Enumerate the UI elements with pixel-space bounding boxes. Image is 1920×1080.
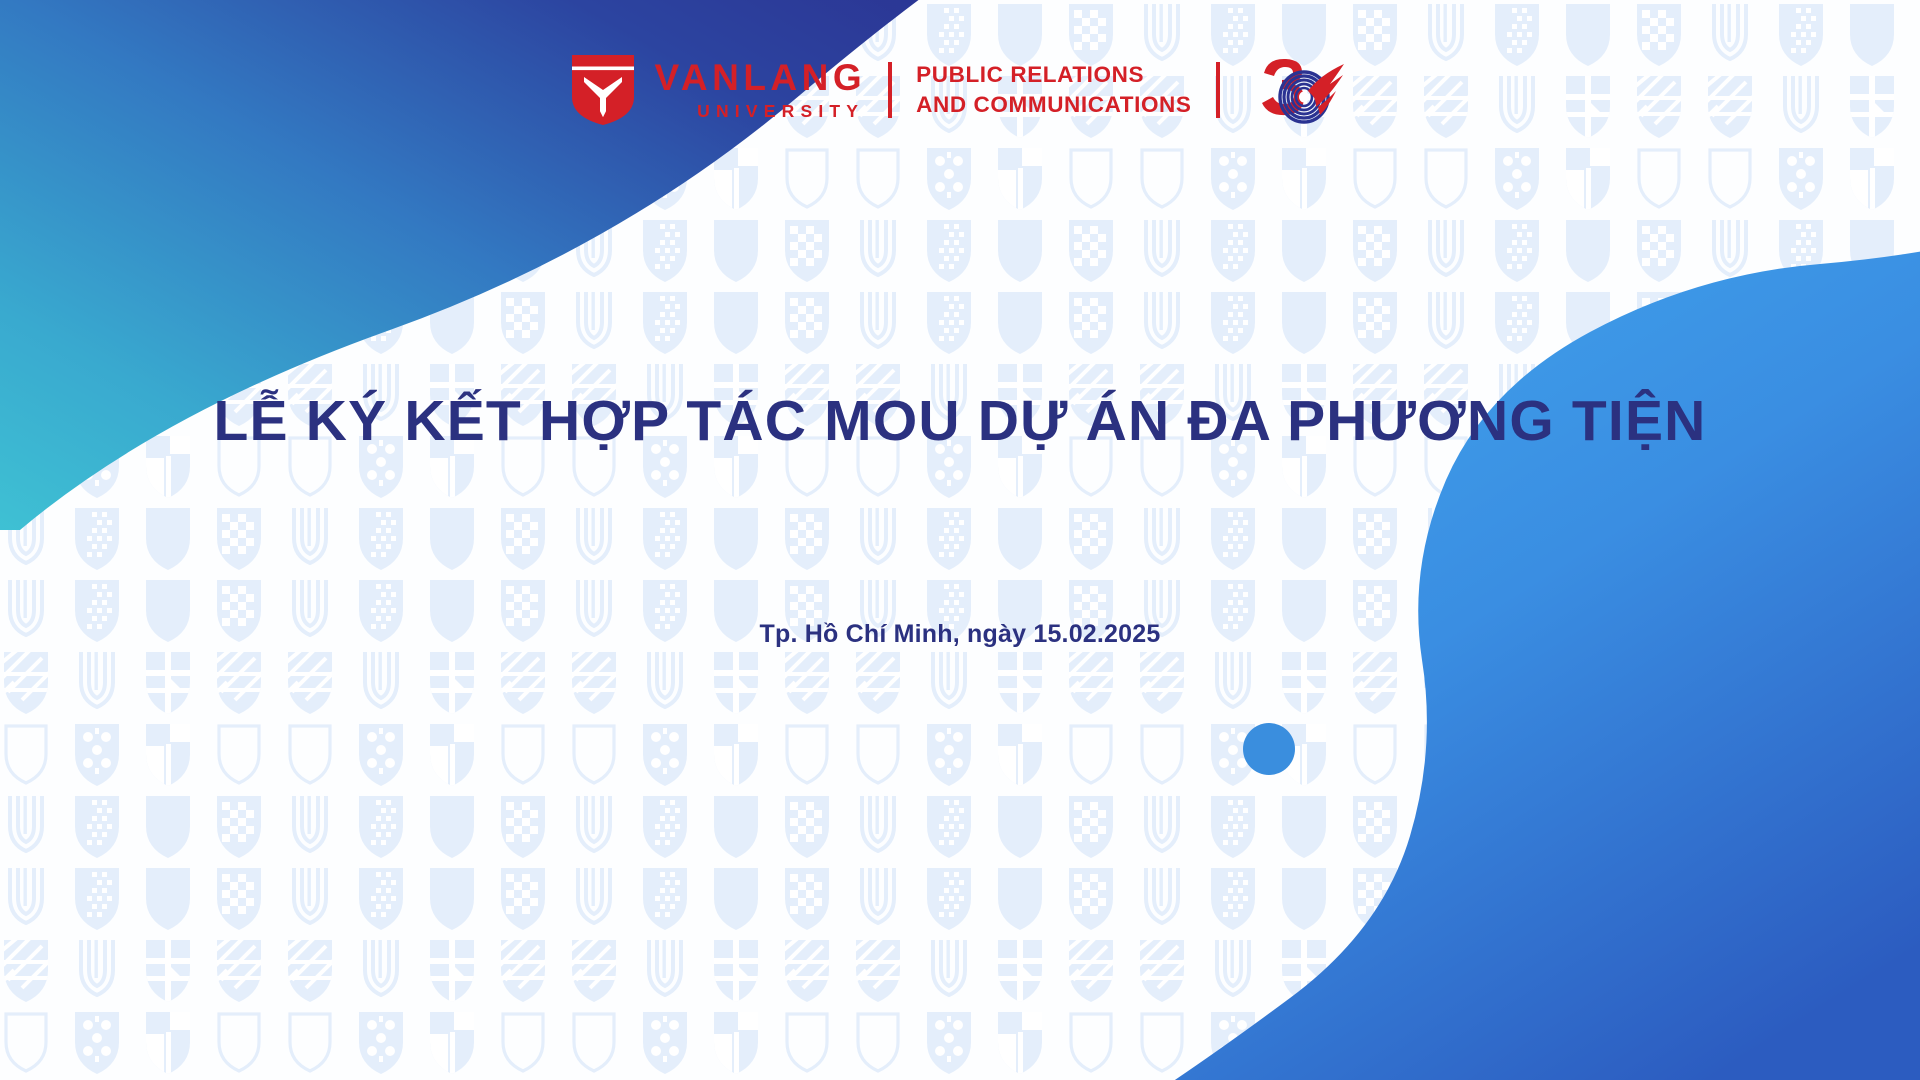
department-name: PUBLIC RELATIONS AND COMMUNICATIONS xyxy=(916,63,1191,117)
accent-circle-dot xyxy=(1243,723,1295,775)
department-line-1: PUBLIC RELATIONS xyxy=(916,63,1191,87)
logo-divider-left xyxy=(888,62,892,118)
30-years-anniversary-icon xyxy=(1246,51,1350,129)
presentation-slide: VANLANG UNIVERSITY PUBLIC RELATIONS AND … xyxy=(0,0,1920,1080)
university-suffix: UNIVERSITY xyxy=(654,103,866,121)
slide-title-container: LỄ KÝ KẾT HỢP TÁC MOU DỰ ÁN ĐA PHƯƠNG TI… xyxy=(0,390,1920,453)
department-line-2: AND COMMUNICATIONS xyxy=(916,93,1191,117)
logo-divider-right xyxy=(1216,62,1220,118)
slide-subtitle: Tp. Hồ Chí Minh, ngày 15.02.2025 xyxy=(760,620,1161,649)
vanlang-wordmark: VANLANG UNIVERSITY xyxy=(654,59,866,121)
background-shield-pattern xyxy=(0,0,1920,1080)
header-logo-lockup: VANLANG UNIVERSITY PUBLIC RELATIONS AND … xyxy=(0,52,1920,128)
university-name: VANLANG xyxy=(654,59,866,96)
vanlang-shield-icon xyxy=(570,53,636,127)
slide-subtitle-container: Tp. Hồ Chí Minh, ngày 15.02.2025 xyxy=(0,620,1920,649)
slide-title: LỄ KÝ KẾT HỢP TÁC MOU DỰ ÁN ĐA PHƯƠNG TI… xyxy=(213,390,1706,453)
